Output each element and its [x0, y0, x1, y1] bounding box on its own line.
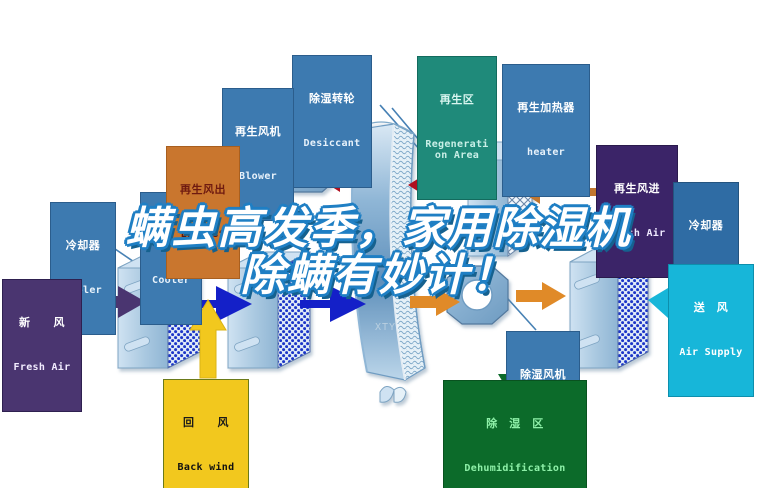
label-desiccant-rotor-en: Desiccant: [297, 139, 367, 150]
label-regeneration-fresh-air-en: Fresh Air: [601, 229, 673, 240]
label-dehumidification-blower-cn: 除湿风机: [511, 369, 575, 381]
label-regeneration-blower-cn: 再生风机: [227, 126, 289, 138]
arrow-blower-to-supply-cooler: [516, 282, 566, 310]
label-back-wind-en: Back wind: [168, 463, 244, 474]
cooler-unit-left-2: [228, 252, 310, 368]
label-desiccant-rotor-cn: 除湿转轮: [297, 93, 367, 105]
label-fresh-air-inlet[interactable]: 新 风 Fresh Air: [2, 279, 82, 412]
label-regeneration-area-en: Regenerati on Area: [422, 140, 492, 162]
label-back-wind[interactable]: 回 风 Back wind: [163, 379, 249, 488]
label-desiccant-rotor[interactable]: 除湿转轮 Desiccant: [292, 55, 372, 188]
label-regeneration-heater[interactable]: 再生加热器 heater: [502, 64, 590, 197]
label-regeneration-area[interactable]: 再生区 Regenerati on Area: [417, 56, 497, 200]
label-air-supply-en: Air Supply: [673, 348, 749, 359]
label-air-supply[interactable]: 送 风 Air Supply: [668, 264, 754, 397]
label-fresh-air-inlet-cn: 新 风: [7, 317, 77, 329]
label-air-supply-cn: 送 风: [673, 302, 749, 314]
label-back-wind-cn: 回 风: [168, 417, 244, 429]
label-regeneration-heater-cn: 再生加热器: [507, 102, 585, 114]
label-regeneration-exhaust-cn: 再生风出: [171, 184, 235, 196]
dehumidification-blower: [447, 266, 508, 324]
label-regeneration-fresh-air-cn: 再生风进: [601, 183, 673, 195]
label-dehumidification-district-cn: 除 湿 区: [448, 418, 582, 430]
label-cooler-right-cn: 冷却器: [678, 220, 734, 232]
label-regeneration-heater-en: heater: [507, 148, 585, 159]
label-cooler-left-1-cn: 冷却器: [55, 240, 111, 252]
label-fresh-air-inlet-en: Fresh Air: [7, 363, 77, 374]
label-regeneration-fresh-air[interactable]: 再生风进 Fresh Air: [596, 145, 678, 278]
label-regeneration-exhaust-en: Exhaust: [171, 230, 235, 241]
watermark: XTY: [375, 322, 396, 333]
diagram-canvas: XTY 除湿转轮 Desiccant 再生风机 Blower 再生区 Regen…: [0, 0, 757, 488]
label-dehumidification-district[interactable]: 除 湿 区 Dehumidification District: [443, 380, 587, 488]
label-regeneration-exhaust[interactable]: 再生风出 Exhaust: [166, 146, 240, 279]
label-dehumidification-district-en: Dehumidification: [448, 464, 582, 475]
label-regeneration-area-cn: 再生区: [422, 94, 492, 106]
